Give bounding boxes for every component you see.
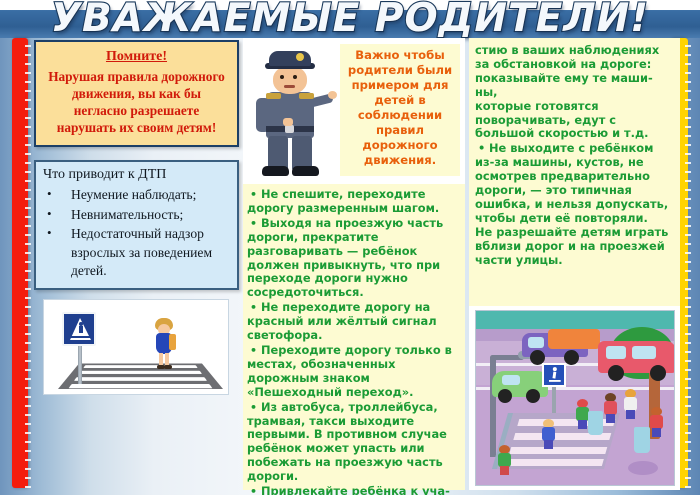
cap [269,51,311,66]
zebra-stripe [83,366,197,369]
leg [268,136,288,170]
pedestrian-crossing-sign-icon [542,363,566,387]
tips-box: Не спешите, переходите дорогу размеренны… [243,184,465,490]
list-item: Из автобуса, троллейбуса, трамвая, такси… [247,401,460,484]
wheel [650,365,666,381]
street-lamp-post [490,357,496,457]
important-note-text: Важно чтобы родители были примером для д… [343,48,457,169]
list-item: Неумение наблюдать; [43,186,230,204]
left-red-ribbon [12,38,28,488]
wheel [564,350,579,365]
girl-figure [151,318,177,372]
body [604,401,617,415]
legs [626,410,635,419]
street-scene-illustration [475,310,675,486]
traffic-policeman-icon [249,44,335,180]
list-item: Переходите дорогу только в местах, обозн… [247,344,460,400]
left-column: Помните! Нарушая правила дорожного движе… [34,40,239,395]
pedestrian-glyph [544,365,564,385]
zebra-stripe [69,385,213,389]
list-item: Недостаточный надзор взрослых за поведен… [43,225,230,280]
right-text-box: стию в ваших наблюдениях за обстановкой … [469,38,680,306]
remember-title: Помните! [44,49,229,65]
zebra-stripe [506,459,604,466]
belt-buckle [285,125,294,133]
continuation-text: стию в ваших наблюдениях за обстановкой … [475,44,675,100]
girl-on-crosswalk-illustration [43,299,229,395]
child-figure [602,393,620,425]
mouth [284,85,295,88]
wheel [608,365,624,381]
dtp-box: Что приводит к ДТП Неумение наблюдать; Н… [34,160,239,290]
hand [328,91,337,99]
red-bus [598,341,675,373]
epaulette [266,93,281,99]
road-surface [58,364,223,389]
body [542,427,555,441]
right-column: стию в ваших наблюдениях за обстановкой … [469,38,680,490]
bag [169,334,176,350]
legs [652,428,661,437]
wheel [498,389,512,403]
eye [293,75,297,79]
list-item: Выходя на проезжую часть дороги, прекрат… [247,217,460,300]
manhole [628,461,658,475]
middle-column: Важно чтобы родители были примером для д… [243,38,465,490]
trash-bin [634,427,650,453]
boot [262,166,289,176]
leg [292,136,312,170]
wheel [526,389,540,403]
legs [606,414,615,423]
child-figure [648,407,666,439]
poster-root: УВАЖАЕМЫЕ РОДИТЕЛИ! Помните! Нарушая пра… [0,0,700,495]
pedestrian-glyph [68,316,93,341]
pedestrian-crossing-sign-icon [62,312,96,346]
list-item: Не выходите с ребёнком из-за машины, кус… [475,142,675,225]
legs [578,420,587,429]
boot [292,166,319,176]
body [498,453,511,467]
epaulette [299,93,314,99]
legs [500,466,509,475]
tips-list: Не спешите, переходите дорогу размеренны… [247,188,460,495]
zebra-stripe [79,371,202,374]
legs [544,440,553,449]
zebra-stripe [509,447,607,454]
list-item: Не спешите, переходите дорогу размеренны… [247,188,460,216]
cap-badge [296,53,304,61]
window [632,346,656,359]
green-car [492,371,548,397]
window [606,346,626,359]
truck-cargo [548,329,600,349]
list-item: Привлекайте ребёнка к уча- [247,485,460,495]
zebra-stripe [74,378,207,382]
page-title: УВАЖАЕМЫЕ РОДИТЕЛИ! [0,0,700,41]
list-item: Не переходите дорогу на красный или жёлт… [247,301,460,343]
shoe [164,365,172,369]
child-figure [540,419,558,451]
child-figure [622,389,640,421]
window [528,337,544,348]
body [624,397,637,411]
policeman-zone: Важно чтобы родители были примером для д… [243,38,465,184]
eye [280,75,284,79]
hand [283,118,293,126]
body [650,415,663,429]
dtp-list: Неумение наблюдать; Невнимательность; Не… [43,186,230,280]
remember-box: Помните! Нарушая правила дорожного движе… [34,40,239,147]
face [273,66,307,94]
trash-bin [588,411,603,435]
continuation-text-2: которые готовятся поворачивать, едут с б… [475,100,675,142]
list-item: Невнимательность; [43,206,230,224]
dtp-title: Что приводит к ДТП [43,167,230,183]
final-note: Не разрешайте детям играть вблизи дорог … [475,226,675,268]
remember-body: Нарушая правила дорожного движения, вы к… [44,68,229,136]
child-figure [496,445,514,477]
important-note-box: Важно чтобы родители были примером для д… [340,44,460,176]
window [502,375,520,385]
